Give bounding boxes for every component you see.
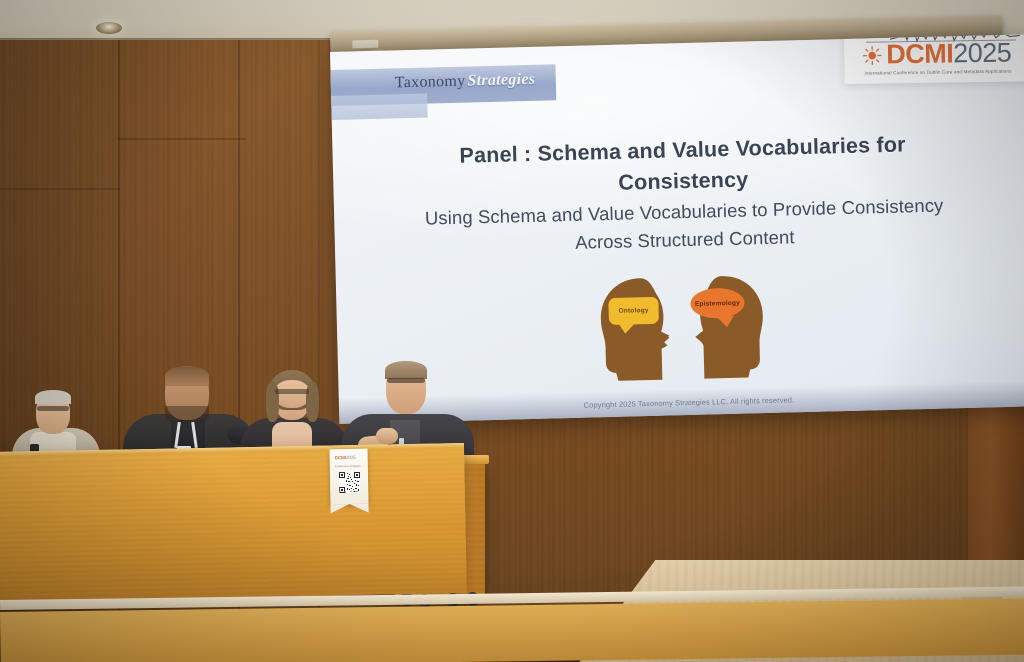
slide-subtitle: Using Schema and Value Vocabularies to P… — [424, 192, 945, 261]
panel-table — [0, 443, 467, 602]
speech-bubble-ontology: Ontology — [608, 297, 659, 325]
dcmi-logo-badge: DCMI2025 International Conference on Dub… — [844, 34, 1024, 84]
logo-word-taxonomy: Taxonomy — [395, 73, 466, 92]
dcmi-brand-text: DCMI — [886, 38, 953, 69]
slide-title: Panel : Schema and Value Vocabularies fo… — [422, 129, 943, 203]
conference-panel-photo: TaxonomyStrategies Panel : Schema and Va… — [0, 0, 1024, 662]
qr-code-icon — [339, 472, 360, 493]
dcmi-wordmark: DCMI2025 — [886, 40, 1011, 69]
dcmi-year-text: 2025 — [953, 38, 1012, 69]
podium-dcmi-sign: DCMI2025 Conference Program — [330, 449, 369, 505]
slide-header-banner-secondary — [331, 94, 428, 120]
sign-year-text: 2025 — [346, 455, 356, 460]
sign-wordmark: DCMI2025 — [335, 455, 356, 460]
logo-word-strategies: Strategies — [467, 71, 535, 90]
dcmi-tagline: International Conference on Dublin Core … — [864, 69, 1011, 76]
two-heads-graphic: Ontology Epistemology — [594, 273, 767, 385]
sign-brand-text: DCMI — [335, 455, 346, 460]
sign-subtext: Conference Program — [335, 464, 361, 468]
taxonomy-strategies-logo: TaxonomyStrategies — [395, 71, 536, 93]
dcmi-sun-icon — [862, 45, 882, 65]
ceiling-spotlight — [96, 22, 122, 34]
roller-brand-tag — [352, 40, 378, 49]
